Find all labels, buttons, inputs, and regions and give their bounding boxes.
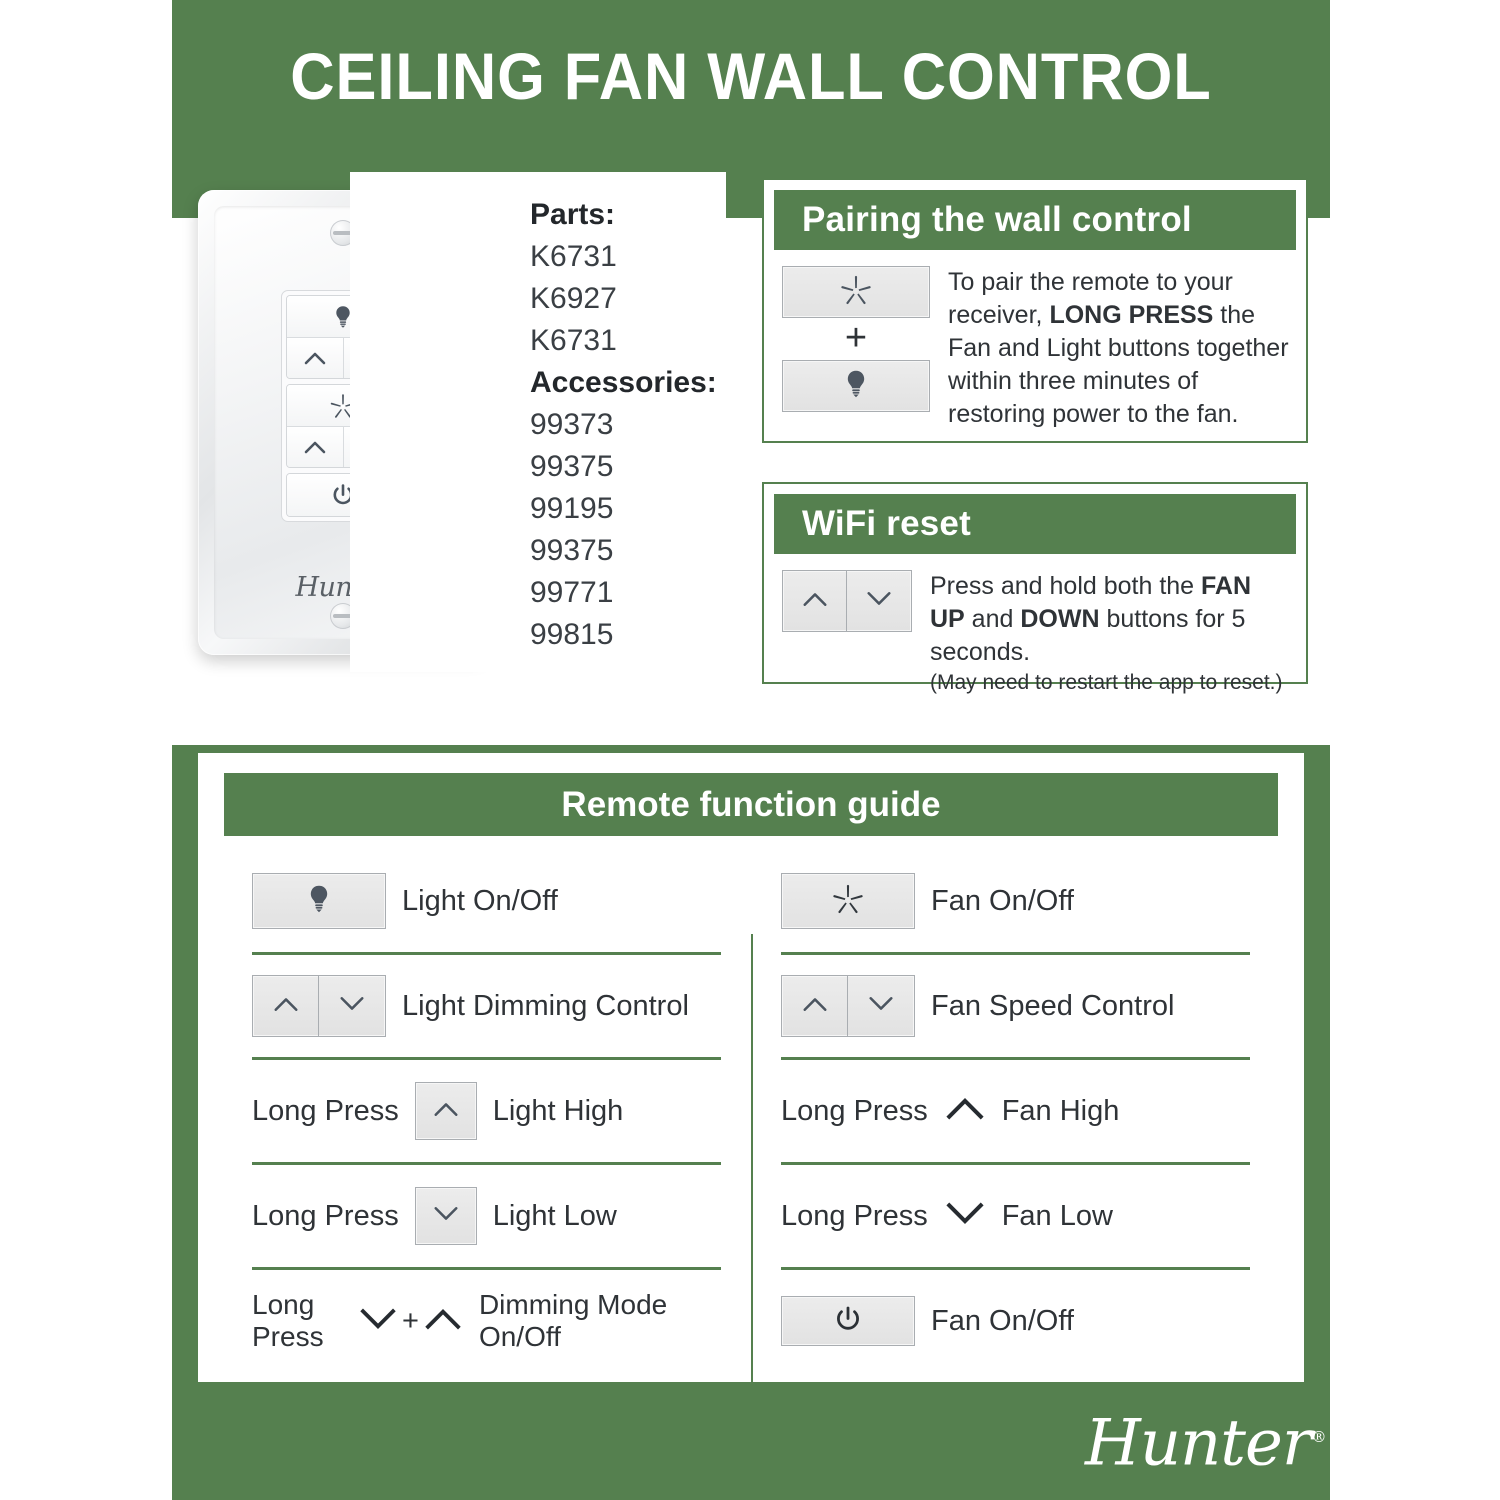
guide-row-prefix: Long Press (252, 1199, 399, 1233)
guide-row-dimming-mode: Long Press + Dimming Mode (252, 1278, 721, 1364)
wifi-text-strong-2: DOWN (1020, 605, 1099, 633)
chevron-up-icon (944, 1095, 986, 1127)
chevron-up-icon (433, 1101, 459, 1122)
guide-row-fan-high: Long Press Fan High (781, 1068, 1250, 1154)
accessories-heading: Accessories: (530, 362, 717, 404)
guide-row-label: Dimming Mode On/Off (479, 1289, 667, 1353)
guide-row-label: Light On/Off (402, 884, 558, 918)
guide-row-prefix: Long Press (781, 1094, 928, 1128)
bulb-icon (845, 369, 867, 404)
pairing-card-header: Pairing the wall control (774, 190, 1296, 250)
accessory-number: 99771 (530, 572, 717, 614)
guide-row-divider (781, 1267, 1250, 1270)
chevron-up-icon (304, 440, 326, 454)
chevron-down-icon (866, 591, 892, 612)
accessory-number: 99815 (530, 614, 717, 656)
part-number: K6731 (530, 320, 717, 362)
chevron-up-icon (802, 996, 828, 1017)
guide-row-divider (781, 952, 1250, 955)
wifi-text-2: and (965, 605, 1021, 633)
device-light-up-button[interactable] (287, 338, 344, 378)
guide-header: Remote function guide (224, 773, 1278, 836)
guide-row-label: Light Dimming Control (402, 989, 689, 1023)
guide-row-label: Light Low (493, 1199, 617, 1233)
guide-row-light-on-off: Light On/Off (252, 858, 721, 944)
guide-row-fan-low: Long Press Fan Low (781, 1173, 1250, 1259)
chevron-down-icon (358, 1306, 398, 1337)
guide-row-divider (781, 1057, 1250, 1060)
footer-brand-name: Hunter (1085, 1406, 1311, 1480)
guide-row-prefix: Long Press (252, 1289, 342, 1353)
guide-row-divider (252, 952, 721, 955)
guide-light-button (252, 873, 386, 929)
footer-brand-logo: Hunter® (1085, 1398, 1300, 1476)
guide-row-label: Fan Low (1002, 1199, 1113, 1233)
fan-star-icon (838, 272, 874, 313)
guide-fan-button (781, 873, 915, 929)
part-number: K6927 (530, 278, 717, 320)
guide-row-label-line1: Dimming Mode (479, 1289, 667, 1320)
chevron-up-icon (273, 996, 299, 1017)
guide-row-divider (252, 1162, 721, 1165)
bulb-icon (308, 884, 330, 919)
registered-trademark-icon: ® (1311, 1428, 1325, 1446)
wifi-note: (May need to restart the app to reset.) (930, 669, 1292, 697)
guide-row-label: Fan On/Off (931, 1304, 1074, 1338)
pairing-button-stack: + (782, 266, 930, 431)
chevron-up-icon (423, 1306, 463, 1337)
guide-row-divider (252, 1267, 721, 1270)
guide-vertical-divider (751, 934, 753, 1444)
guide-light-updown-pair (252, 975, 386, 1037)
guide-light-up-button (253, 976, 319, 1036)
chevron-up-icon (304, 351, 326, 365)
guide-row-fan-power: Fan On/Off (781, 1278, 1250, 1364)
guide-row-divider (781, 1162, 1250, 1165)
guide-row-label: Fan Speed Control (931, 989, 1174, 1023)
wifi-reset-card: WiFi reset Press and hold both the FAN U… (762, 482, 1308, 684)
wifi-up-button (783, 571, 847, 631)
guide-title: Remote function guide (561, 785, 940, 825)
guide-fan-updown-pair (781, 975, 915, 1037)
pairing-card-title: Pairing the wall control (802, 200, 1192, 240)
parts-list: Parts: K6731 K6927 K6731 Accessories: 99… (530, 194, 717, 656)
guide-row-prefix-line1: Long (252, 1289, 314, 1320)
device-fan-up-button[interactable] (287, 427, 344, 467)
wifi-instructions: Press and hold both the FAN UP and DOWN … (930, 570, 1292, 697)
chevron-down-icon (868, 996, 894, 1017)
pairing-card-body: + To pair the remote to your receiver, L… (764, 250, 1306, 431)
guide-light-up-single-button (415, 1082, 477, 1140)
guide-row-light-low: Long Press Light Low (252, 1173, 721, 1259)
guide-row-label: Light High (493, 1094, 624, 1128)
accessory-number: 99195 (530, 488, 717, 530)
pairing-card: Pairing the wall control (762, 178, 1308, 443)
pairing-instructions: To pair the remote to your receiver, LON… (948, 266, 1292, 431)
accessory-number: 99373 (530, 404, 717, 446)
parts-heading: Parts: (530, 194, 717, 236)
guide-row-prefix: Long Press (252, 1094, 399, 1128)
guide-row-label: Fan On/Off (931, 884, 1074, 918)
chevron-down-icon (339, 996, 365, 1017)
guide-fan-down-button (848, 976, 914, 1036)
wifi-text-1: Press and hold both the (930, 572, 1201, 600)
chevron-up-icon (802, 591, 828, 612)
guide-row-prefix-line2: Press (252, 1321, 324, 1352)
pairing-text-strong: LONG PRESS (1049, 301, 1213, 329)
wifi-updown-button-pair (782, 570, 912, 632)
wifi-card-body: Press and hold both the FAN UP and DOWN … (764, 554, 1306, 697)
page-title: CEILING FAN WALL CONTROL (213, 38, 1290, 114)
wifi-down-button (847, 571, 911, 631)
guide-right-column: Fan On/Off (751, 858, 1280, 1364)
chevron-down-icon (944, 1200, 986, 1232)
pairing-plus-symbol: + (782, 318, 930, 358)
infographic-page: CEILING FAN WALL CONTROL (0, 0, 1500, 1500)
guide-power-button (781, 1296, 915, 1346)
guide-light-down-single-button (415, 1187, 477, 1245)
chevron-down-icon (433, 1206, 459, 1227)
pairing-light-button (782, 360, 930, 412)
fan-star-icon (830, 881, 866, 922)
wifi-instruction-text: Press and hold both the FAN UP and DOWN … (930, 570, 1292, 669)
guide-row-label: Fan High (1002, 1094, 1120, 1128)
guide-light-down-button (319, 976, 385, 1036)
power-icon (834, 1305, 862, 1338)
accessory-number: 99375 (530, 446, 717, 488)
wifi-card-title: WiFi reset (802, 504, 971, 544)
guide-row-label-line2: On/Off (479, 1321, 561, 1352)
pairing-fan-button (782, 266, 930, 318)
wifi-card-header: WiFi reset (774, 494, 1296, 554)
guide-chevron-combo: + (358, 1304, 463, 1338)
guide-columns: Light On/Off (198, 836, 1304, 1364)
guide-fan-up-button (782, 976, 848, 1036)
parts-card: Parts: K6731 K6927 K6731 Accessories: 99… (350, 172, 726, 672)
guide-row-light-high: Long Press Light High (252, 1068, 721, 1154)
guide-row-prefix: Long Press (781, 1199, 928, 1233)
guide-row-fan-speed: Fan Speed Control (781, 963, 1250, 1049)
guide-left-column: Light On/Off (222, 858, 751, 1364)
guide-row-light-dimming: Light Dimming Control (252, 963, 721, 1049)
guide-row-fan-on-off: Fan On/Off (781, 858, 1250, 944)
accessory-number: 99375 (530, 530, 717, 572)
guide-plus-symbol: + (402, 1304, 419, 1338)
remote-function-guide: Remote function guide (196, 751, 1306, 1384)
part-number: K6731 (530, 236, 717, 278)
guide-row-divider (252, 1057, 721, 1060)
